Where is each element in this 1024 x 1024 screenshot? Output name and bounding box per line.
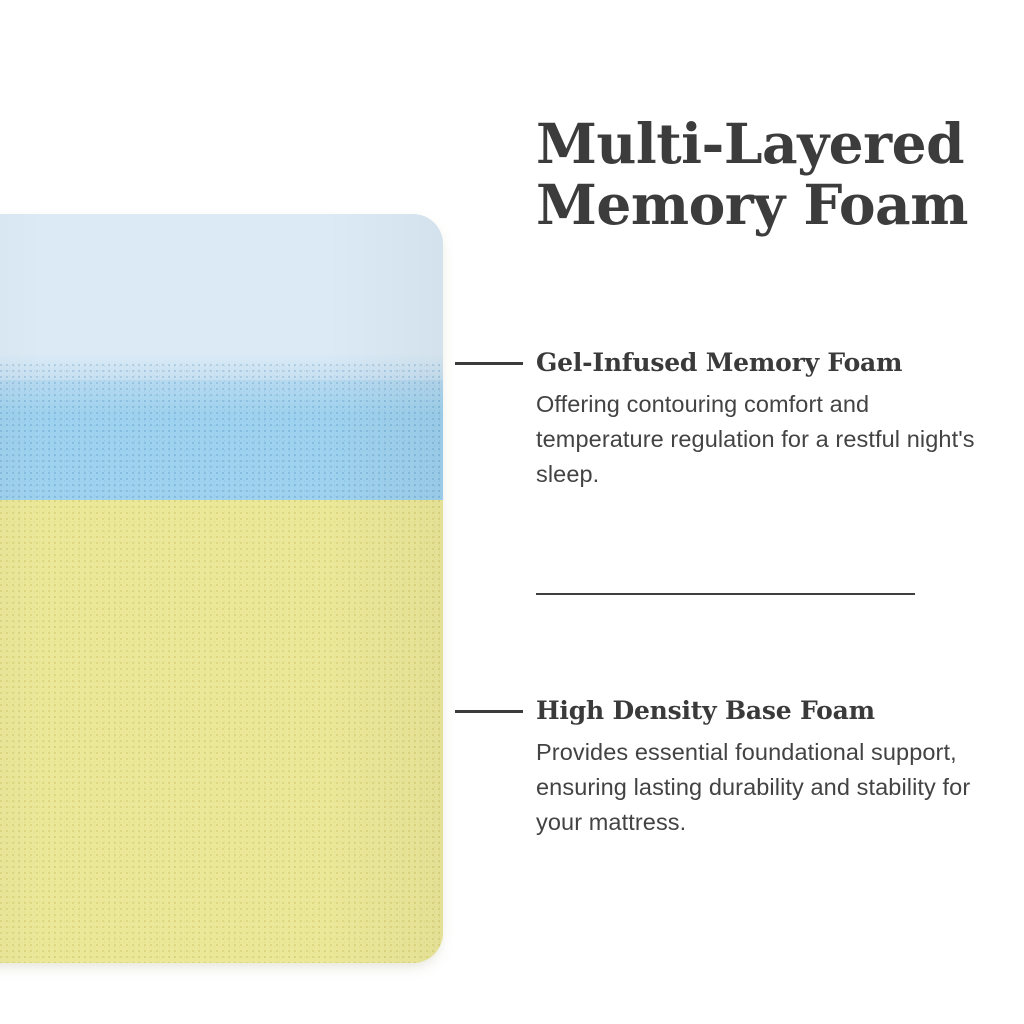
leader-line-icon [455, 710, 523, 713]
feature-description: Offering contouring comfort and temperat… [536, 387, 1000, 493]
page-title-line-1: Multi-Layered [536, 114, 996, 175]
foam-texture-gel [0, 364, 443, 500]
page-title-line-2: Memory Foam [536, 175, 996, 236]
feature-body: High Density Base Foam Provides essentia… [536, 697, 1000, 840]
feature-heading: High Density Base Foam [536, 697, 1000, 725]
foam-texture-base [0, 500, 443, 963]
feature-heading: Gel-Infused Memory Foam [536, 349, 1000, 377]
feature-body: Gel-Infused Memory Foam Offering contour… [536, 349, 1000, 492]
leader-line-icon [455, 362, 523, 365]
feature-gel-infused-memory-foam: Gel-Infused Memory Foam Offering contour… [455, 349, 1000, 492]
foam-block-image [0, 214, 443, 963]
feature-divider [536, 593, 915, 595]
feature-high-density-base-foam: High Density Base Foam Provides essentia… [455, 697, 1000, 840]
page-title: Multi-Layered Memory Foam [536, 114, 996, 235]
feature-description: Provides essential foundational support,… [536, 735, 1000, 841]
